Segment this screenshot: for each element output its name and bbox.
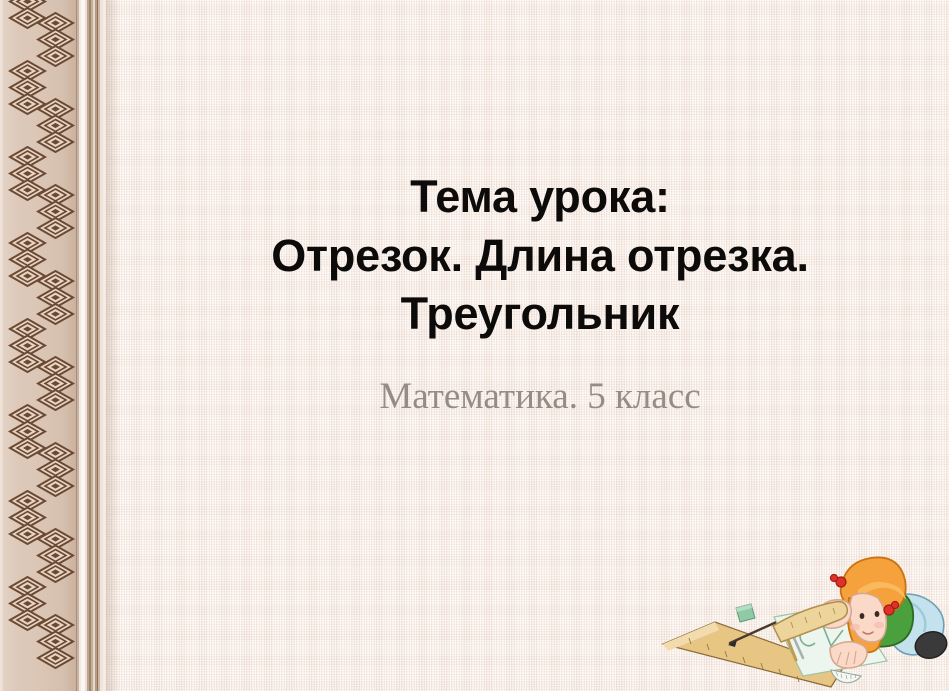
border-ornament-panel [5, 0, 76, 691]
border-diamond-motif [35, 528, 76, 583]
border-diamond-motif [35, 12, 76, 67]
page-title: Тема урока: Отрезок. Длина отрезка. Треу… [170, 168, 910, 344]
border-motif-group [5, 0, 76, 691]
border-diamond-motif [35, 442, 76, 497]
title-line-2: Отрезок. Длина отрезка. [170, 227, 910, 286]
border-diamond-motif [35, 98, 76, 153]
title-block: Тема урока: Отрезок. Длина отрезка. Треу… [170, 168, 910, 344]
border-diamond-motif [35, 184, 76, 239]
border-diamond-motif [35, 614, 76, 669]
title-line-1: Тема урока: [170, 168, 910, 227]
left-decorative-border [0, 0, 106, 691]
border-moulding-strips [76, 0, 106, 691]
border-diamond-motif [35, 356, 76, 411]
girl-drawing-illustration [655, 548, 949, 691]
page-subtitle: Математика. 5 класс [170, 375, 910, 419]
border-drop-shadow [106, 0, 118, 691]
slide-canvas: Тема урока: Отрезок. Длина отрезка. Треу… [0, 0, 949, 691]
border-diamond-motif [35, 270, 76, 325]
green-eraser-icon [736, 604, 755, 622]
title-line-3: Треугольник [170, 285, 910, 344]
